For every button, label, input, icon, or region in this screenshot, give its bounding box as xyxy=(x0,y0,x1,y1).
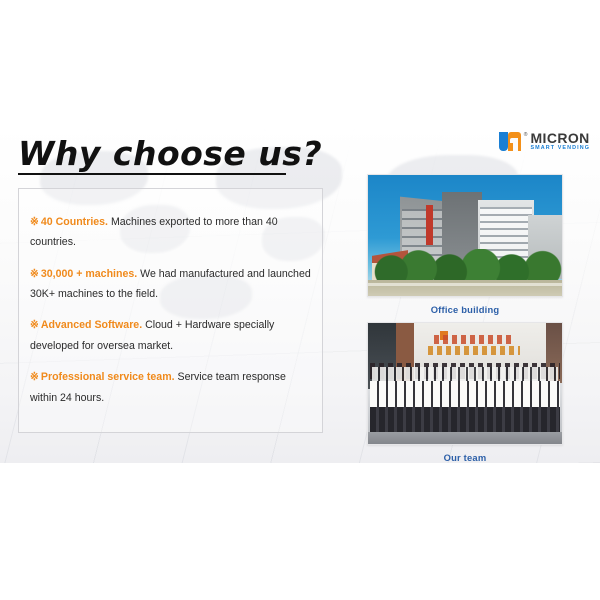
logo-brand-name: MICRON xyxy=(530,131,590,145)
office-building-photo-block: Office building xyxy=(367,174,563,315)
list-item-lead: 40 Countries. xyxy=(41,216,108,228)
asterisk-marker-icon: ※ xyxy=(30,268,39,280)
asterisk-marker-icon: ※ xyxy=(30,371,39,383)
list-item-lead: Professional service team. xyxy=(41,371,175,383)
list-item-lead: 30,000 + machines. xyxy=(41,268,137,280)
list-item: ※30,000 + machines. We had manufactured … xyxy=(30,264,311,305)
asterisk-marker-icon: ※ xyxy=(30,216,39,228)
registered-trademark-icon: ® xyxy=(524,132,528,138)
logo-text-block: MICRON SMART VENDING xyxy=(530,131,590,151)
logo-tagline: SMART VENDING xyxy=(530,146,590,151)
micron-logo: ® MICRON SMART VENDING xyxy=(499,131,590,151)
team-caption: Our team xyxy=(367,452,563,463)
presentation-slide: ® MICRON SMART VENDING Why choose us? ※4… xyxy=(0,125,600,463)
list-item: ※40 Countries. Machines exported to more… xyxy=(30,212,311,253)
micron-logo-mark-icon xyxy=(499,132,521,151)
title-underline xyxy=(18,173,286,175)
list-item: ※Professional service team. Service team… xyxy=(30,367,311,408)
list-item: ※Advanced Software. Cloud + Hardware spe… xyxy=(30,315,311,356)
list-item-lead: Advanced Software. xyxy=(41,319,142,331)
asterisk-marker-icon: ※ xyxy=(30,319,39,331)
office-building-caption: Office building xyxy=(367,304,563,315)
office-building-image xyxy=(367,174,563,297)
team-photo-block: Our team xyxy=(367,322,563,463)
team-image xyxy=(367,322,563,445)
selling-points-panel: ※40 Countries. Machines exported to more… xyxy=(18,188,323,433)
slide-title-block: Why choose us? xyxy=(18,137,322,175)
page-title: Why choose us? xyxy=(18,137,322,170)
